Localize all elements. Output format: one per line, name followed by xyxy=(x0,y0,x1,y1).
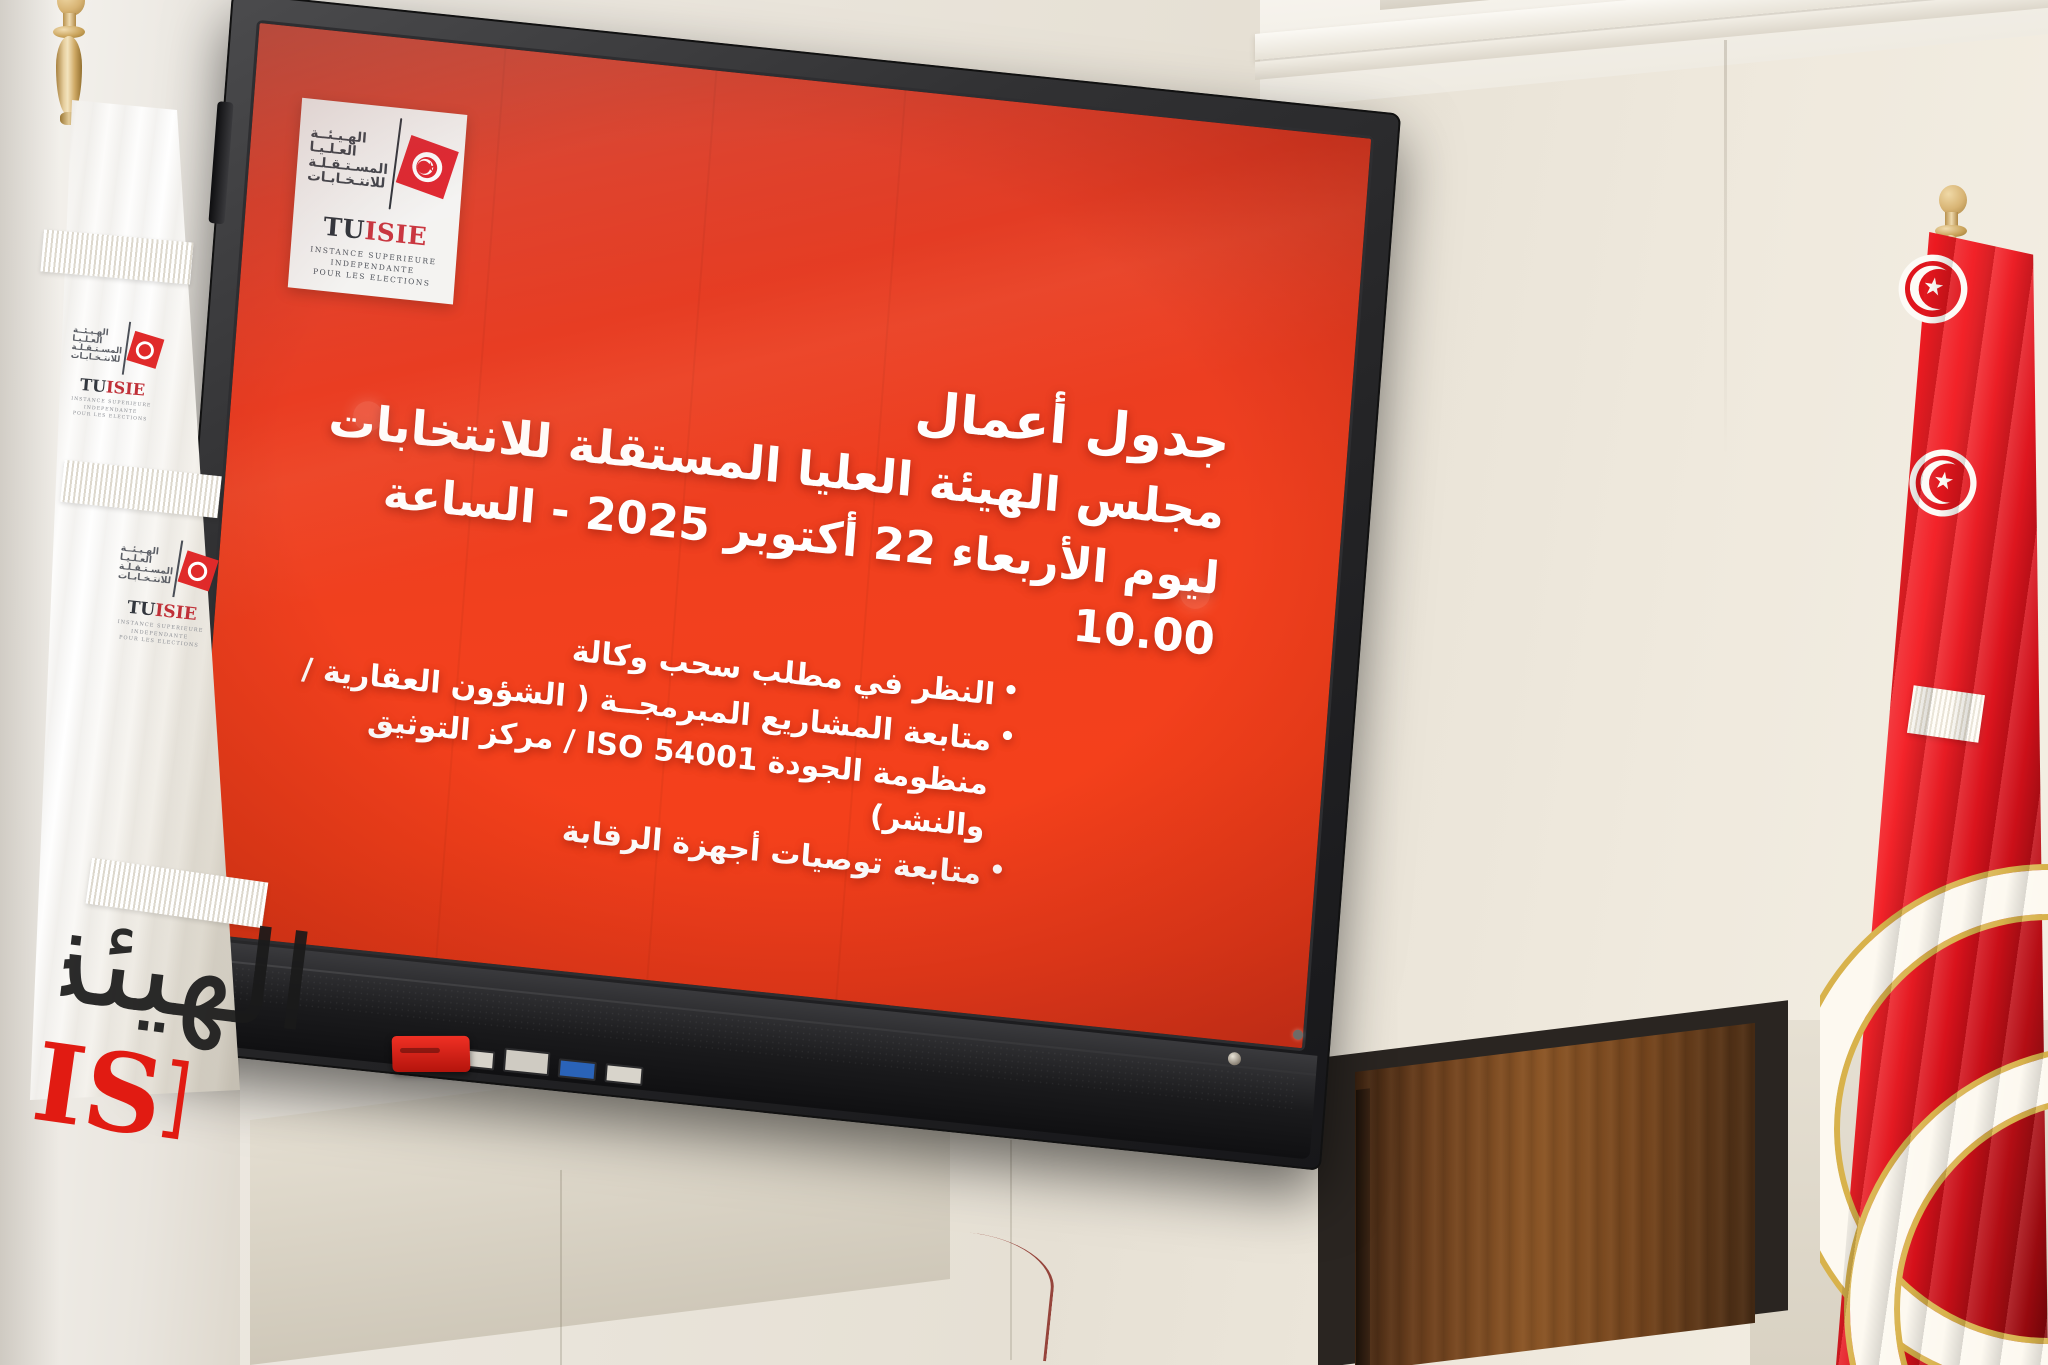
display-screen-frame: الهـيـئــة العـلـيـا المسـتـقـلـة للانتـ… xyxy=(191,23,1372,1048)
usb-port-2[interactable] xyxy=(558,1058,597,1081)
flag-logo-flag-icon xyxy=(180,553,216,589)
flag-logo-line-4: للانتـخـابـات xyxy=(70,352,120,365)
scene-root: الهـيـئــة العـلـيـا المسـتـقـلـة للانتـ… xyxy=(0,0,2048,1365)
wall-seam xyxy=(560,1170,562,1365)
flag-logo-accent: ISIE xyxy=(105,378,146,400)
door-grain xyxy=(1355,1023,1755,1365)
flag-logo-flag-icon xyxy=(129,333,162,366)
door-rail xyxy=(1356,1088,1370,1365)
display-screen[interactable]: الهـيـئــة العـلـيـا المسـتـقـلـة للانتـ… xyxy=(191,23,1372,1048)
flag-logo-prefix: TU xyxy=(79,376,107,397)
flat-panel-display[interactable]: الهـيـئــة العـلـيـا المسـتـقـلـة للانتـ… xyxy=(152,0,1402,1171)
flag-logo-prefix: TU xyxy=(126,597,156,620)
usb-port-1[interactable] xyxy=(604,1063,643,1086)
usb-flash-drive[interactable] xyxy=(392,1036,471,1072)
screen-vignette xyxy=(191,23,1372,1048)
hdmi-port[interactable] xyxy=(503,1048,551,1077)
flag-logo-accent: ISIE xyxy=(154,600,198,625)
wall-corner-line xyxy=(1724,40,1727,460)
flag-isie-logo: الهـيـئــة العـلـيـا المسـتـقـلـة للانتـ… xyxy=(104,533,225,652)
flag-isie-logo: الهـيـئــة العـلـيـا المسـتـقـلـة للانتـ… xyxy=(59,316,170,425)
